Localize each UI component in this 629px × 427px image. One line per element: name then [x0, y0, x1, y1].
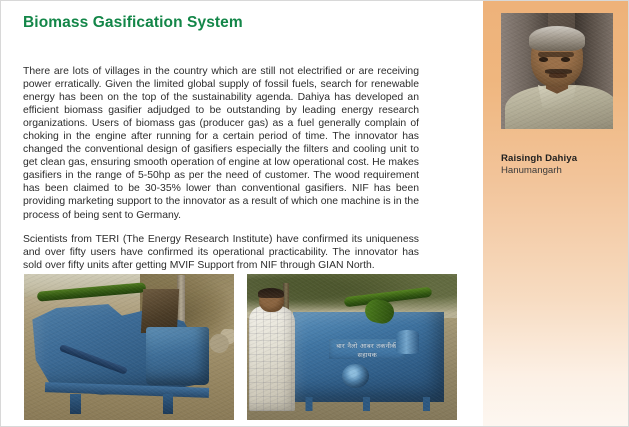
photo2-man-torso	[249, 306, 295, 411]
portrait-mouth	[549, 73, 567, 78]
photo-blue-drum	[146, 327, 209, 385]
photo2-painted-label-panel: बार नैलो आबर तकनीकी सहायक	[329, 339, 405, 359]
article-body: There are lots of villages in the countr…	[23, 65, 419, 272]
paragraph-2: Scientists from TERI (The Energy Researc…	[23, 233, 419, 272]
innovator-sidebar: Raisingh Dahiya Hanumangarh	[471, 1, 629, 427]
photo2-blue-machine-body: बार नैलो आबर तकनीकी सहायक	[293, 312, 444, 403]
photo2-shirt-pattern	[249, 306, 295, 411]
photo-rusty-hopper	[140, 289, 178, 333]
photo-trolley-leg-left	[70, 394, 81, 414]
portrait-eye-right	[561, 57, 570, 62]
paragraph-1: There are lots of villages in the countr…	[23, 65, 419, 222]
gallery-image-innovator-with-machine: बार नैलो आबर तकनीकी सहायक	[246, 273, 458, 421]
innovator-name: Raisingh Dahiya	[501, 153, 577, 164]
gallery-image-gasifier-machine	[23, 273, 235, 421]
portrait-eye-left	[539, 57, 548, 62]
photo-trolley-leg-right	[163, 394, 174, 414]
photo2-cylinder	[396, 330, 419, 354]
article-page: Biomass Gasification System There are lo…	[0, 0, 629, 427]
innovator-portrait-photo	[501, 13, 613, 129]
photo2-flywheel	[342, 364, 369, 388]
photo2-machine-legs	[297, 397, 440, 412]
photo2-machine-label-line1: बार नैलो आबर तकनीकी सहायक	[329, 342, 405, 360]
main-content-column: Biomass Gasification System There are lo…	[1, 1, 471, 427]
page-title: Biomass Gasification System	[23, 14, 243, 32]
portrait-grey-hair	[529, 26, 585, 52]
photo-gallery: बार नैलो आबर तकनीकी सहायक	[23, 273, 459, 421]
innovator-location: Hanumangarh	[501, 165, 562, 176]
sidebar-content: Raisingh Dahiya Hanumangarh	[483, 1, 629, 427]
photo2-man-hair	[258, 288, 284, 298]
